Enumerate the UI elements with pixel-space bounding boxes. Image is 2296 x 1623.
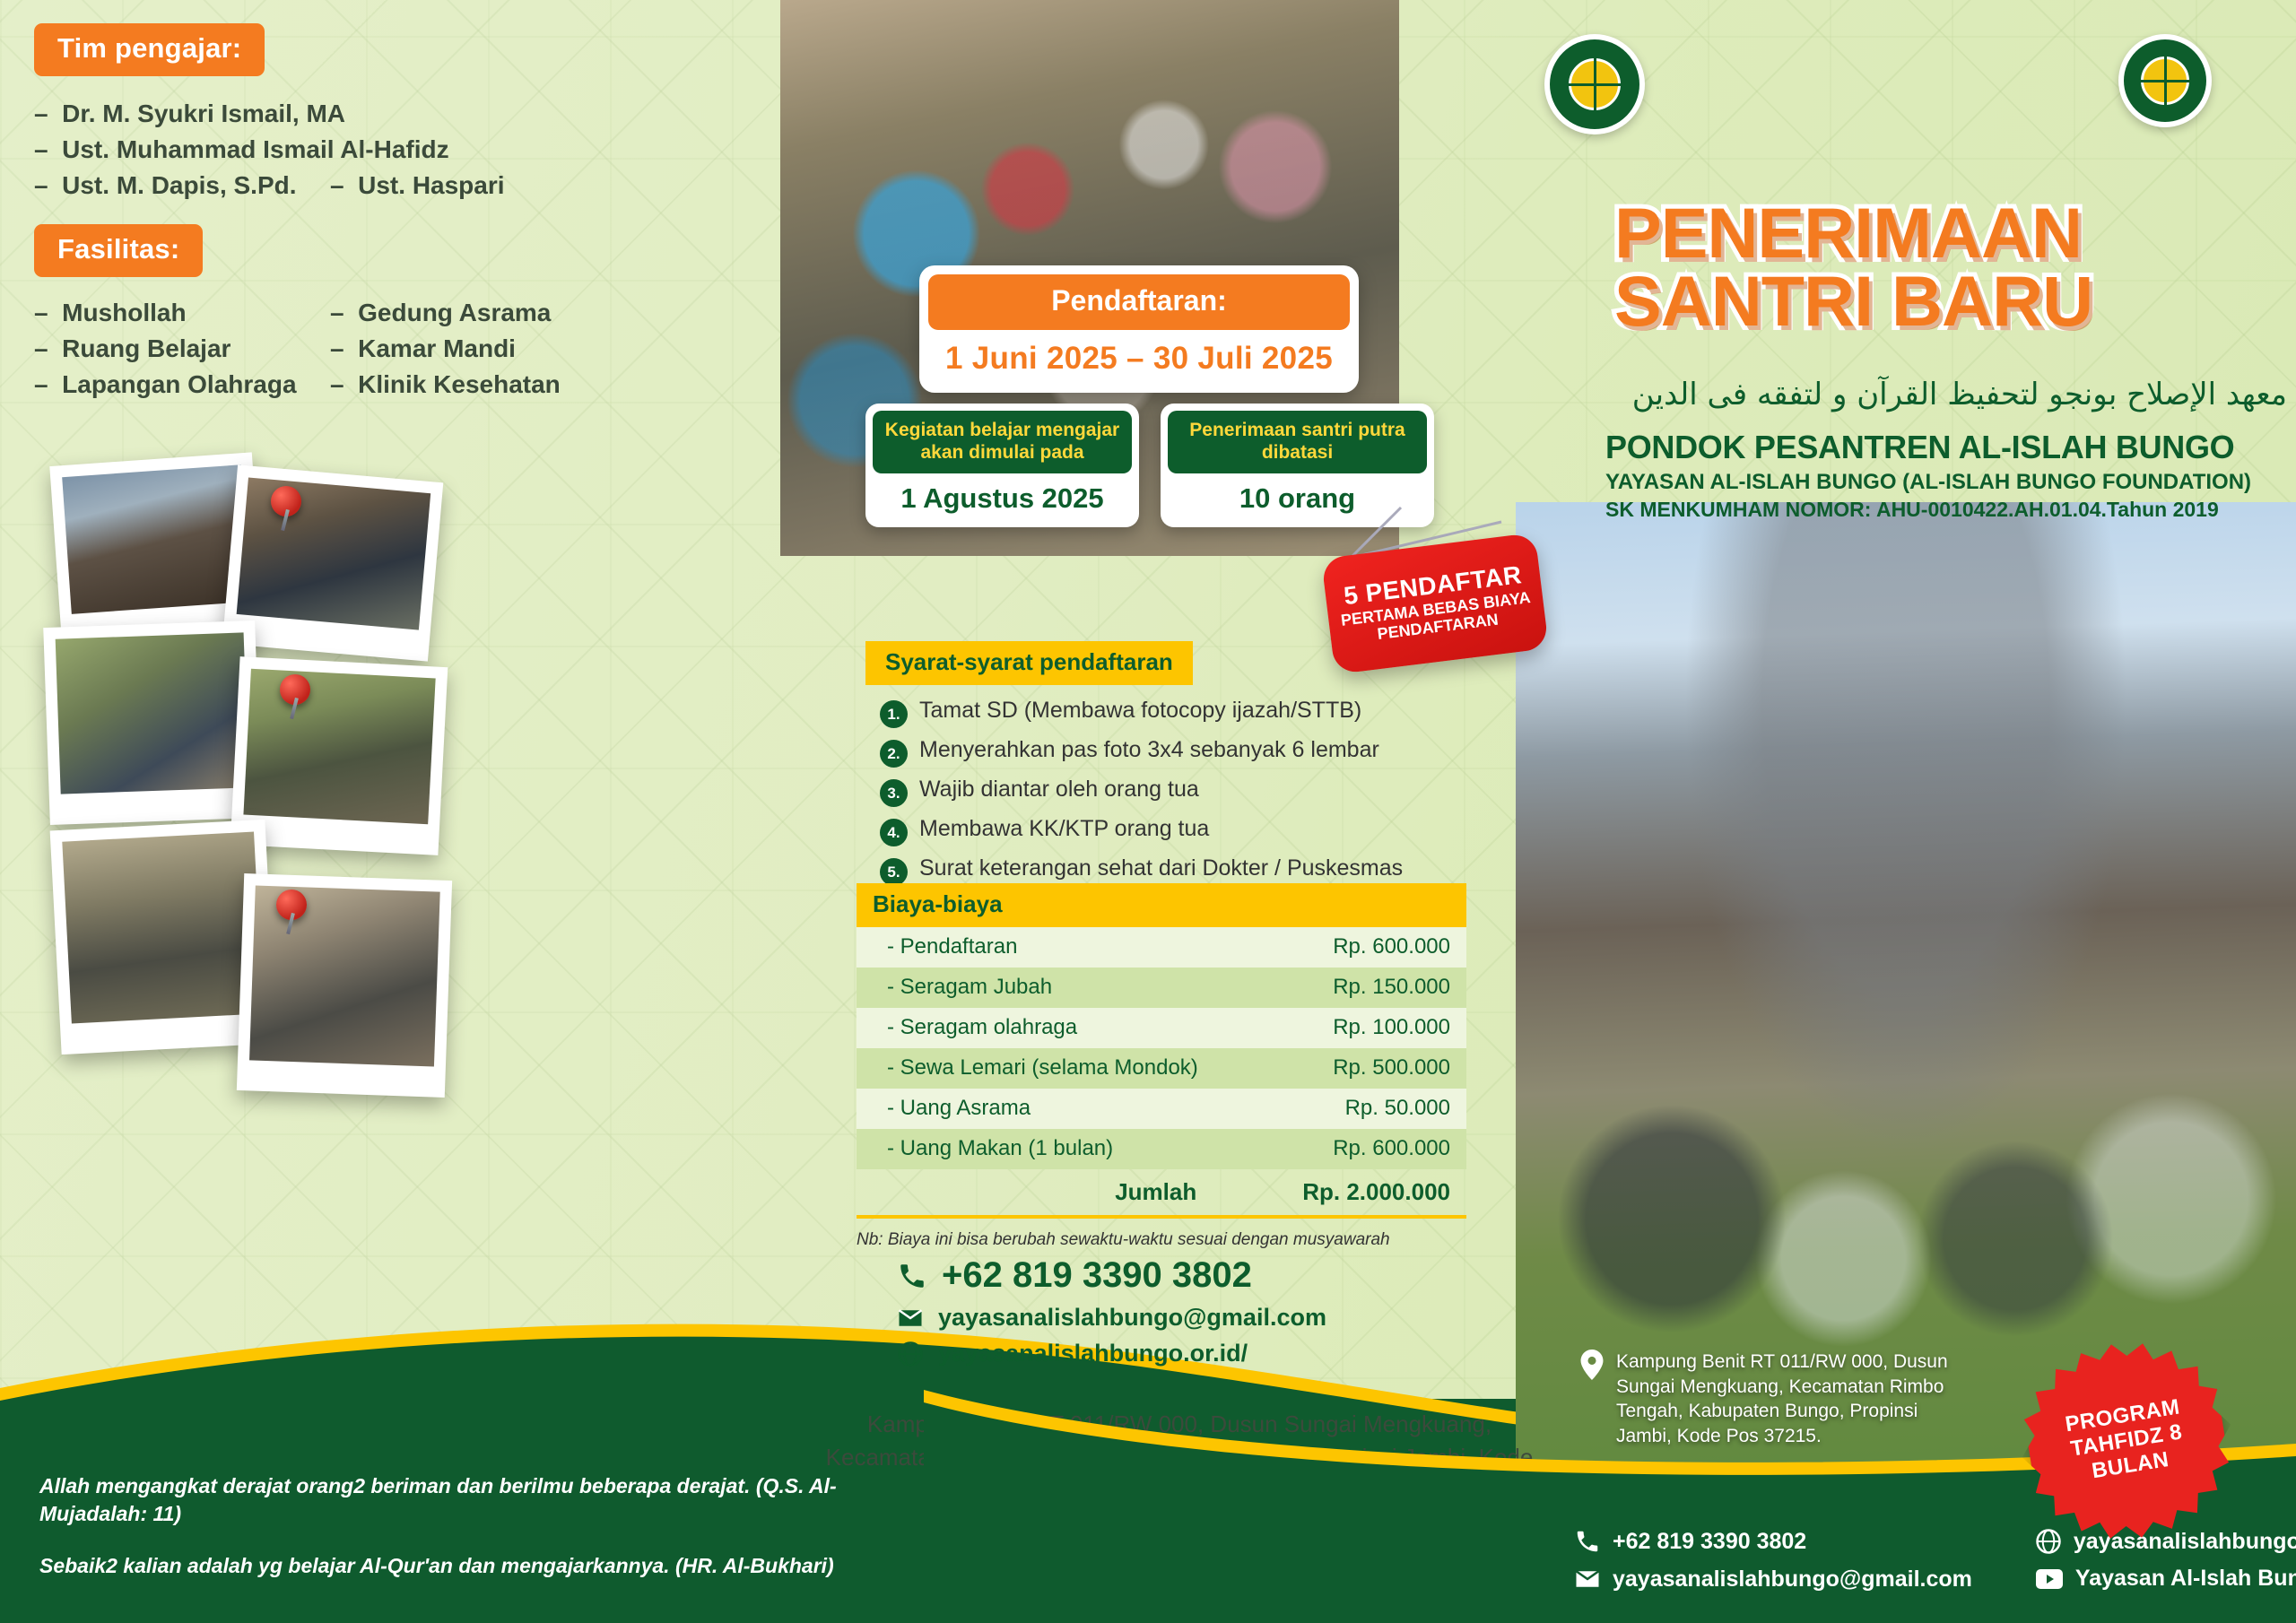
facility-name: Lapangan Olahraga <box>62 370 296 398</box>
address-overlay: Kampung Benit RT 011/RW 000, Dusun Sunga… <box>1578 1350 1973 1449</box>
table-row: - PendaftaranRp. 600.000 <box>857 927 1466 968</box>
fee-label: - Sewa Lemari (selama Mondok) <box>887 1055 1198 1081</box>
info-card-label: Kegiatan belajar mengajar akan dimulai p… <box>873 411 1132 473</box>
location-pin-icon <box>1578 1350 1605 1380</box>
program-badge: PROGRAM TAHFIDZ 8 BULAN <box>2014 1329 2238 1552</box>
fees-heading: Biaya-biaya <box>857 883 1466 927</box>
teacher-name: Dr. M. Syukri Ismail, MA <box>62 100 345 127</box>
requirement-text: Wajib diantar oleh orang tua <box>919 777 1199 803</box>
list-item: 5.Surat keterangan sehat dari Dokter / P… <box>880 855 1493 886</box>
footer-contacts: +62 819 3390 3802 yayasanalislahbungo@gm… <box>1574 1528 2283 1593</box>
contact-email[interactable]: yayasanalislahbungo@gmail.com <box>897 1304 1471 1332</box>
info-card-start-date: Kegiatan belajar mengajar akan dimulai p… <box>865 404 1139 527</box>
title-arabic: معهد الإصلاح بونجو لتحفيظ القرآن و لتفقه… <box>1605 377 2287 412</box>
quote-hadith: Sebaik2 kalian adalah yg belajar Al-Qur'… <box>39 1552 847 1580</box>
registration-dates: 1 Juni 2025 – 30 Juli 2025 <box>928 330 1350 384</box>
fee-label: - Seragam Jubah <box>887 975 1052 1000</box>
fee-label: - Pendaftaran <box>887 934 1017 959</box>
contact-phone[interactable]: +62 819 3390 3802 <box>897 1255 1471 1296</box>
facility-name: Klinik Kesehatan <box>358 370 561 398</box>
fee-amount: Rp. 50.000 <box>1345 1096 1450 1121</box>
address-overlay-text: Kampung Benit RT 011/RW 000, Dusun Sunga… <box>1616 1350 1973 1449</box>
footer-email-address: yayasanalislahbungo@gmail.com <box>1613 1567 1972 1593</box>
email-icon <box>1574 1566 1601 1593</box>
foundation-name: YAYASAN AL-ISLAH BUNGO (AL-ISLAH BUNGO F… <box>1605 470 2287 495</box>
globe-www-icon <box>897 1341 924 1367</box>
photo-collage <box>36 448 771 1435</box>
list-item: 2.Menyerahkan pas foto 3x4 sebanyak 6 le… <box>880 737 1493 768</box>
organization-info: PONDOK PESANTREN AL-ISLAH BUNGO YAYASAN … <box>1605 429 2287 522</box>
requirements-list: 1.Tamat SD (Membawa fotocopy ijazah/STTB… <box>880 698 1493 886</box>
total-label: Jumlah <box>1115 1178 1196 1206</box>
footer-email[interactable]: yayasanalislahbungo@gmail.com <box>1574 1566 1972 1593</box>
footer-phone-number: +62 819 3390 3802 <box>1613 1529 1806 1555</box>
requirement-number: 1. <box>880 700 908 728</box>
requirement-text: Menyerahkan pas foto 3x4 sebanyak 6 lemb… <box>919 737 1379 763</box>
title-line-2: SANTRI BARU <box>1614 267 2278 335</box>
title-line-1: PENERIMAAN <box>1614 199 2278 267</box>
youtube-icon <box>2035 1567 2064 1591</box>
teachers-section: Tim pengajar: – Dr. M. Syukri Ismail, MA… <box>34 23 789 203</box>
requirement-text: Tamat SD (Membawa fotocopy ijazah/STTB) <box>919 698 1361 724</box>
facilities-heading: Fasilitas: <box>34 224 203 277</box>
fee-label: - Seragam olahraga <box>887 1015 1077 1040</box>
facility-name: Gedung Asrama <box>358 299 551 326</box>
quotes-section: Allah mengangkat derajat orang2 beriman … <box>39 1472 847 1580</box>
requirement-number: 2. <box>880 740 908 768</box>
table-row: - Seragam JubahRp. 150.000 <box>857 968 1466 1008</box>
phone-icon <box>1574 1528 1601 1555</box>
list-item: – Dr. M. Syukri Ismail, MA <box>34 96 789 132</box>
website-url: yayasanalislahbungo.or.id/ <box>938 1340 1248 1367</box>
table-row: - Uang Makan (1 bulan)Rp. 600.000 <box>857 1129 1466 1169</box>
fee-amount: Rp. 600.000 <box>1333 934 1450 959</box>
teachers-heading: Tim pengajar: <box>34 23 265 76</box>
footer-phone[interactable]: +62 819 3390 3802 <box>1574 1528 1972 1555</box>
table-row: - Seragam olahragaRp. 100.000 <box>857 1008 1466 1048</box>
fee-label: - Uang Makan (1 bulan) <box>887 1136 1113 1161</box>
email-icon <box>897 1305 924 1332</box>
requirement-number: 5. <box>880 858 908 886</box>
sk-number: SK MENKUMHAM NOMOR: AHU-0010422.AH.01.04… <box>1605 498 2287 522</box>
teacher-name: Ust. Muhammad Ismail Al-Hafidz <box>62 135 448 163</box>
fee-amount: Rp. 150.000 <box>1333 975 1450 1000</box>
table-row: - Uang AsramaRp. 50.000 <box>857 1089 1466 1129</box>
pesantren-logo <box>2118 34 2212 127</box>
phone-number: +62 819 3390 3802 <box>942 1255 1252 1296</box>
facility-name: Ruang Belajar <box>62 334 230 362</box>
list-item: 1.Tamat SD (Membawa fotocopy ijazah/STTB… <box>880 698 1493 728</box>
collage-photo <box>237 873 452 1098</box>
footer-youtube-name: Yayasan Al-Islah Bungo <box>2075 1566 2296 1592</box>
requirement-text: Surat keterangan sehat dari Dokter / Pus… <box>919 855 1403 881</box>
collage-photo <box>222 464 444 661</box>
list-item: 3.Wajib diantar oleh orang tua <box>880 777 1493 807</box>
organization-name: PONDOK PESANTREN AL-ISLAH BUNGO <box>1605 429 2287 466</box>
list-item: – Lapangan Olahraga – Klinik Kesehatan <box>34 367 789 403</box>
fees-note: Nb: Biaya ini bisa berubah sewaktu-waktu… <box>857 1228 1466 1252</box>
table-row: - Sewa Lemari (selama Mondok)Rp. 500.000 <box>857 1048 1466 1089</box>
teacher-name: Ust. Haspari <box>358 171 504 199</box>
list-item: 4.Membawa KK/KTP orang tua <box>880 816 1493 846</box>
list-item: – Ust. Muhammad Ismail Al-Hafidz <box>34 132 789 168</box>
contact-section: +62 819 3390 3802 yayasanalislahbungo@gm… <box>897 1255 1471 1376</box>
list-item: – Ruang Belajar – Kamar Mandi <box>34 331 789 367</box>
facilities-list: – Mushollah – Gedung Asrama – Ruang Bela… <box>34 295 789 402</box>
fee-amount: Rp. 600.000 <box>1333 1136 1450 1161</box>
requirements-heading: Syarat-syarat pendaftaran <box>865 641 1193 685</box>
info-card-label: Penerimaan santri putra dibatasi <box>1168 411 1427 473</box>
teacher-name: Ust. M. Dapis, S.Pd. <box>62 171 296 199</box>
requirement-number: 3. <box>880 779 908 807</box>
page-title: PENERIMAAN SANTRI BARU <box>1614 199 2278 335</box>
fees-table: Biaya-biaya - PendaftaranRp. 600.000 - S… <box>857 883 1466 1252</box>
foundation-logo <box>1544 34 1645 135</box>
footer-youtube[interactable]: Yayasan Al-Islah Bungo <box>2035 1566 2296 1592</box>
registration-card: Pendaftaran: 1 Juni 2025 – 30 Juli 2025 <box>919 265 1359 393</box>
quote-quran: Allah mengangkat derajat orang2 beriman … <box>39 1472 847 1529</box>
requirement-text: Membawa KK/KTP orang tua <box>919 816 1209 842</box>
list-item: – Ust. M. Dapis, S.Pd. – Ust. Haspari <box>34 168 789 204</box>
contact-website[interactable]: yayasanalislahbungo.or.id/ <box>897 1340 1471 1367</box>
requirements-section: Syarat-syarat pendaftaran 1.Tamat SD (Me… <box>865 641 1493 895</box>
phone-icon <box>897 1261 927 1291</box>
fees-total-row: Jumlah Rp. 2.000.000 <box>857 1169 1466 1219</box>
facility-name: Kamar Mandi <box>358 334 516 362</box>
total-amount: Rp. 2.000.000 <box>1302 1178 1450 1206</box>
pushpin-icon <box>280 674 310 705</box>
registration-heading: Pendaftaran: <box>928 274 1350 330</box>
pushpin-icon <box>276 890 307 920</box>
requirement-number: 4. <box>880 819 908 846</box>
fee-amount: Rp. 500.000 <box>1333 1055 1450 1081</box>
facilities-section: Fasilitas: – Mushollah – Gedung Asrama –… <box>34 224 789 402</box>
teachers-list: – Dr. M. Syukri Ismail, MA – Ust. Muhamm… <box>34 96 789 203</box>
email-address: yayasanalislahbungo@gmail.com <box>938 1304 1326 1332</box>
fee-label: - Uang Asrama <box>887 1096 1031 1121</box>
info-card-value: 1 Agustus 2025 <box>873 473 1132 520</box>
list-item: – Mushollah – Gedung Asrama <box>34 295 789 331</box>
fee-amount: Rp. 100.000 <box>1333 1015 1450 1040</box>
collage-photo <box>43 621 262 825</box>
facility-name: Mushollah <box>62 299 186 326</box>
pushpin-icon <box>271 486 301 516</box>
